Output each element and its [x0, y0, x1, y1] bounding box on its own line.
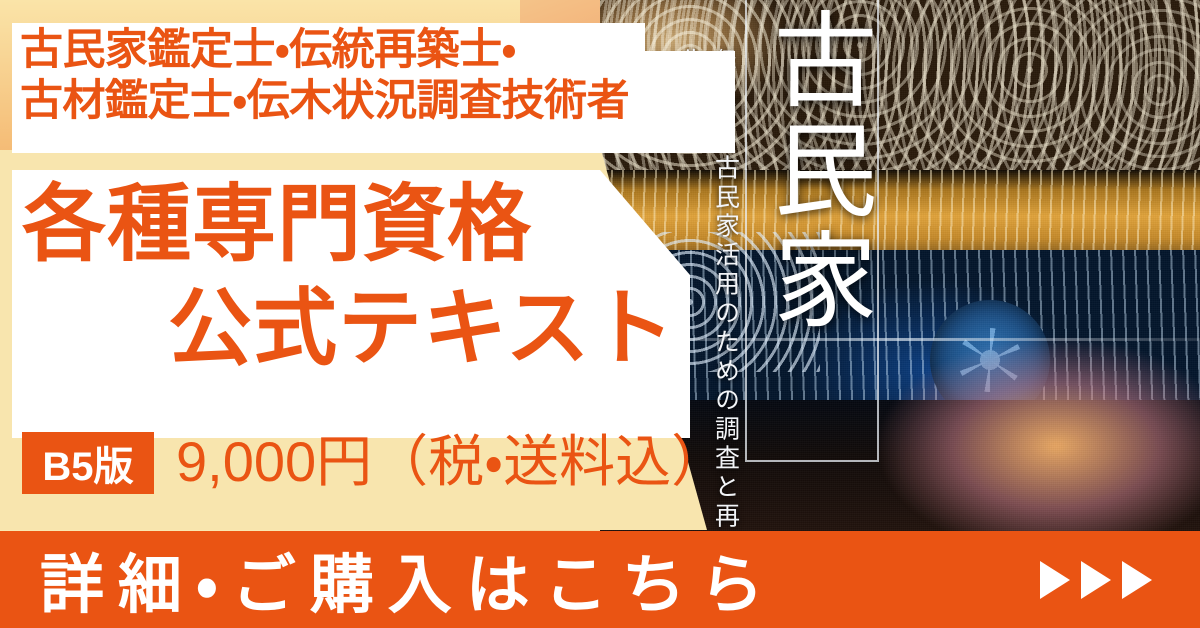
cta-label[interactable]: 詳細・ご購入はこちら	[40, 531, 1040, 628]
format-badge-label: B5版	[22, 432, 154, 494]
qualifications-text: 古民家鑑定士・伝統再築士・ 古材鑑定士・伝木状況調査技術者	[20, 25, 720, 126]
price-text: 9,000円（税・送料込）	[176, 430, 727, 494]
cover-title: 古民家	[748, 6, 872, 336]
format-badge: B5版	[22, 432, 154, 494]
headline-line-1: 各種専門資格	[22, 182, 532, 266]
triangle-right-icon	[1040, 561, 1070, 599]
triangle-right-icon	[1081, 561, 1111, 599]
triangle-right-icon	[1122, 561, 1152, 599]
promo-banner: 古民家 伝統構法 古民家活用のための調査と再生の 古民家鑑定士・伝統再築士・ 古…	[0, 0, 1200, 628]
cta-arrows[interactable]	[1040, 531, 1152, 628]
headline-line-2: 公式テキスト	[168, 286, 675, 370]
